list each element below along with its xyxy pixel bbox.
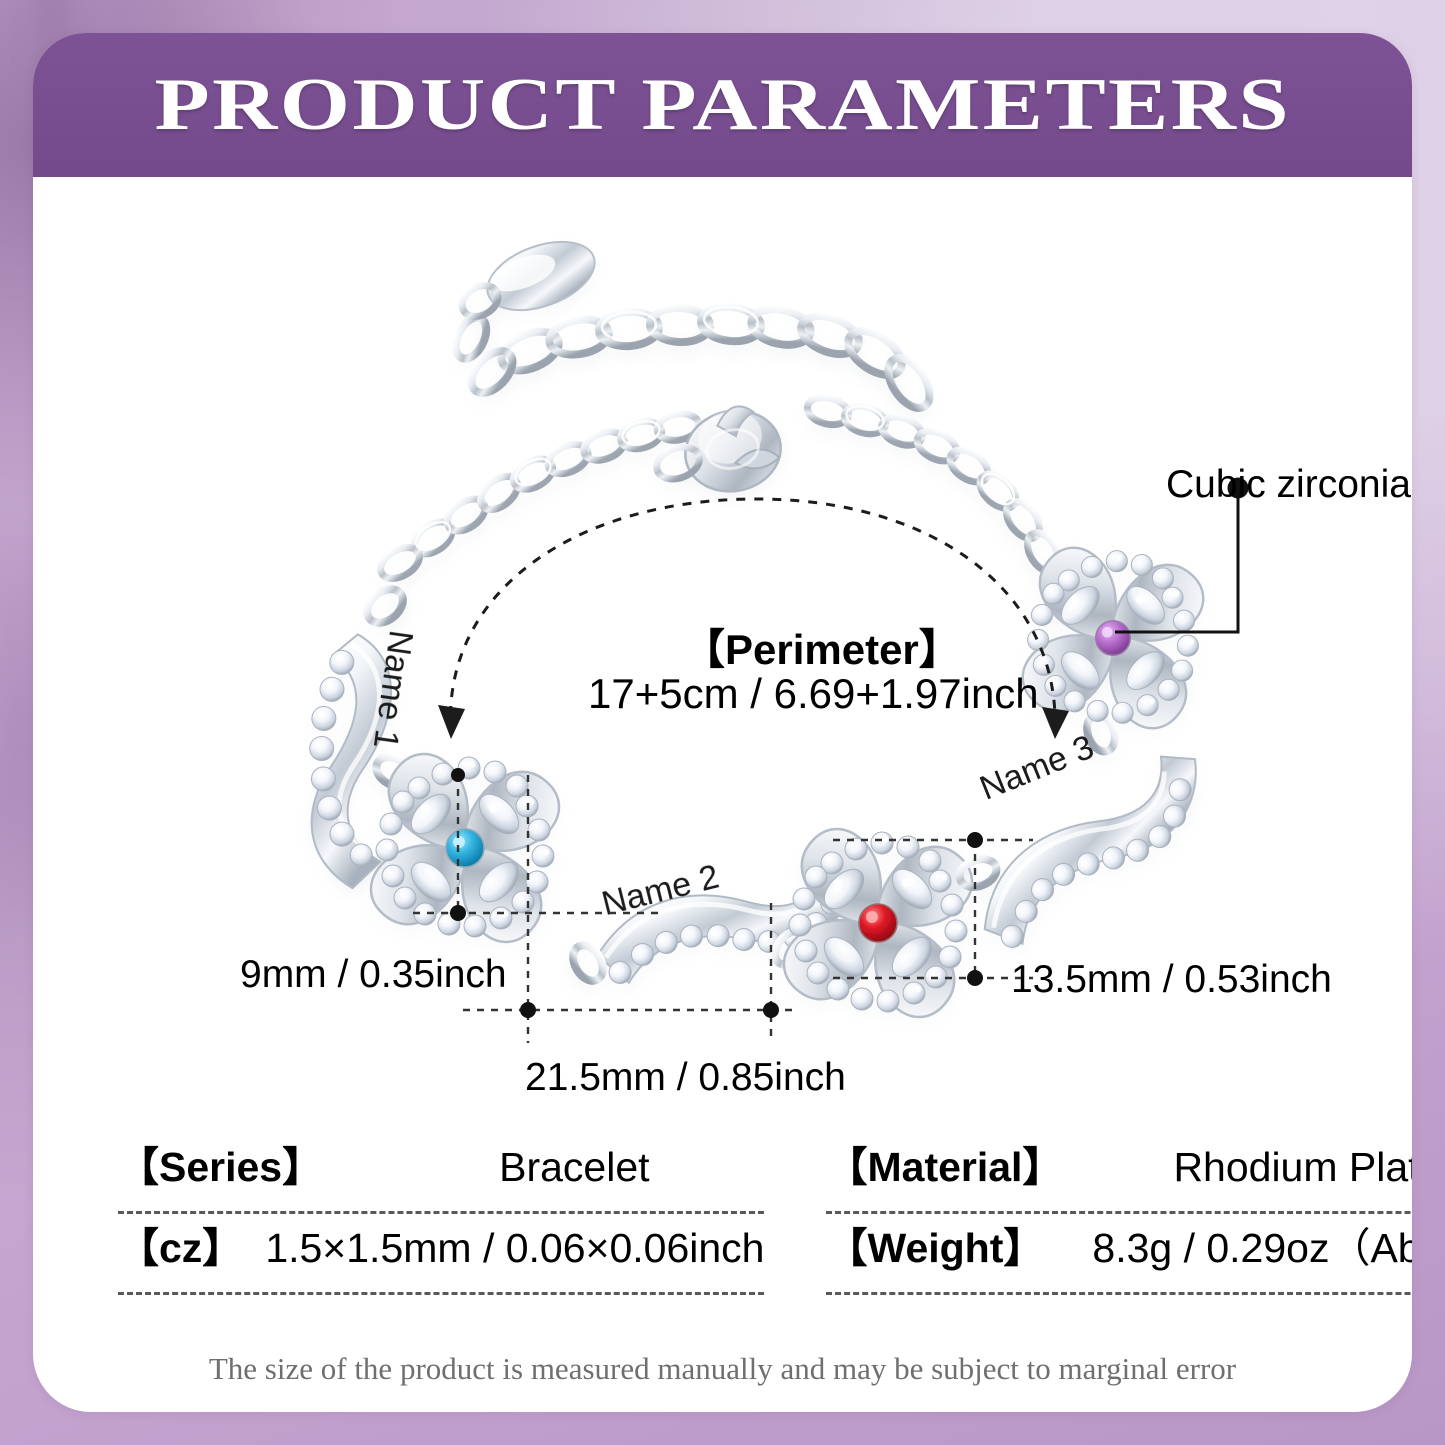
spec-divider bbox=[118, 1292, 764, 1295]
specifications-table: 【Series】 Bracelet 【cz】 1.5×1.5mm / 0.06×… bbox=[118, 1133, 1333, 1295]
spec-key-cz: 【cz】 bbox=[118, 1214, 243, 1274]
spec-column-left: 【Series】 Bracelet 【cz】 1.5×1.5mm / 0.06×… bbox=[118, 1133, 764, 1295]
engraving-name-3: Name 3 bbox=[975, 728, 1100, 808]
dimension-dot bbox=[967, 832, 983, 848]
spec-divider bbox=[826, 1292, 1412, 1295]
spec-row-weight: 【Weight】 8.3g / 0.29oz（About） bbox=[826, 1214, 1412, 1292]
dimension-dot bbox=[763, 1002, 779, 1018]
engraving-name-1: Name 1 bbox=[366, 628, 420, 751]
dimension-label-height: 9mm / 0.35inch bbox=[240, 953, 507, 997]
dimension-label-charm: 13.5mm / 0.53inch bbox=[1011, 958, 1332, 1002]
page-title: PRODUCT PARAMETERS bbox=[154, 63, 1291, 148]
measurement-disclaimer: The size of the product is measured manu… bbox=[33, 1351, 1412, 1387]
spec-key-series: 【Series】 bbox=[118, 1133, 323, 1193]
spec-key-weight: 【Weight】 bbox=[826, 1214, 1044, 1274]
dimension-13-5mm bbox=[833, 840, 1033, 978]
spec-key-material: 【Material】 bbox=[826, 1133, 1063, 1193]
engraving-name-2: Name 2 bbox=[598, 857, 723, 923]
dimension-21-5mm bbox=[463, 903, 793, 1043]
dimension-dot bbox=[451, 768, 465, 782]
dimension-9mm bbox=[413, 775, 658, 1043]
spec-row-material: 【Material】 Rhodium Plated bbox=[826, 1133, 1412, 1211]
spec-value-weight: 8.3g / 0.29oz（About） bbox=[1092, 1214, 1412, 1274]
spec-value-cz: 1.5×1.5mm / 0.06×0.06inch bbox=[265, 1225, 764, 1272]
spec-value-material: Rhodium Plated bbox=[1173, 1144, 1412, 1191]
spec-column-right: 【Material】 Rhodium Plated 【Weight】 8.3g … bbox=[826, 1133, 1412, 1295]
dimension-label-width: 21.5mm / 0.85inch bbox=[525, 1056, 846, 1100]
spec-value-series: Bracelet bbox=[499, 1144, 649, 1191]
header-banner: PRODUCT PARAMETERS bbox=[33, 33, 1412, 177]
dimension-dot bbox=[967, 970, 983, 986]
dimension-dot bbox=[520, 1002, 536, 1018]
spec-row-cz: 【cz】 1.5×1.5mm / 0.06×0.06inch bbox=[118, 1214, 764, 1292]
cubic-zirconia-label: Cubic zirconia bbox=[1166, 463, 1411, 507]
dimension-dot bbox=[450, 905, 466, 921]
perimeter-value: 17+5cm / 6.69+1.97inch bbox=[588, 670, 1039, 718]
content-card: PRODUCT PARAMETERS bbox=[33, 33, 1412, 1412]
perimeter-label: 【Perimeter】 bbox=[683, 616, 961, 677]
product-parameters-infographic: PRODUCT PARAMETERS bbox=[0, 0, 1445, 1445]
spec-row-series: 【Series】 Bracelet bbox=[118, 1133, 764, 1211]
